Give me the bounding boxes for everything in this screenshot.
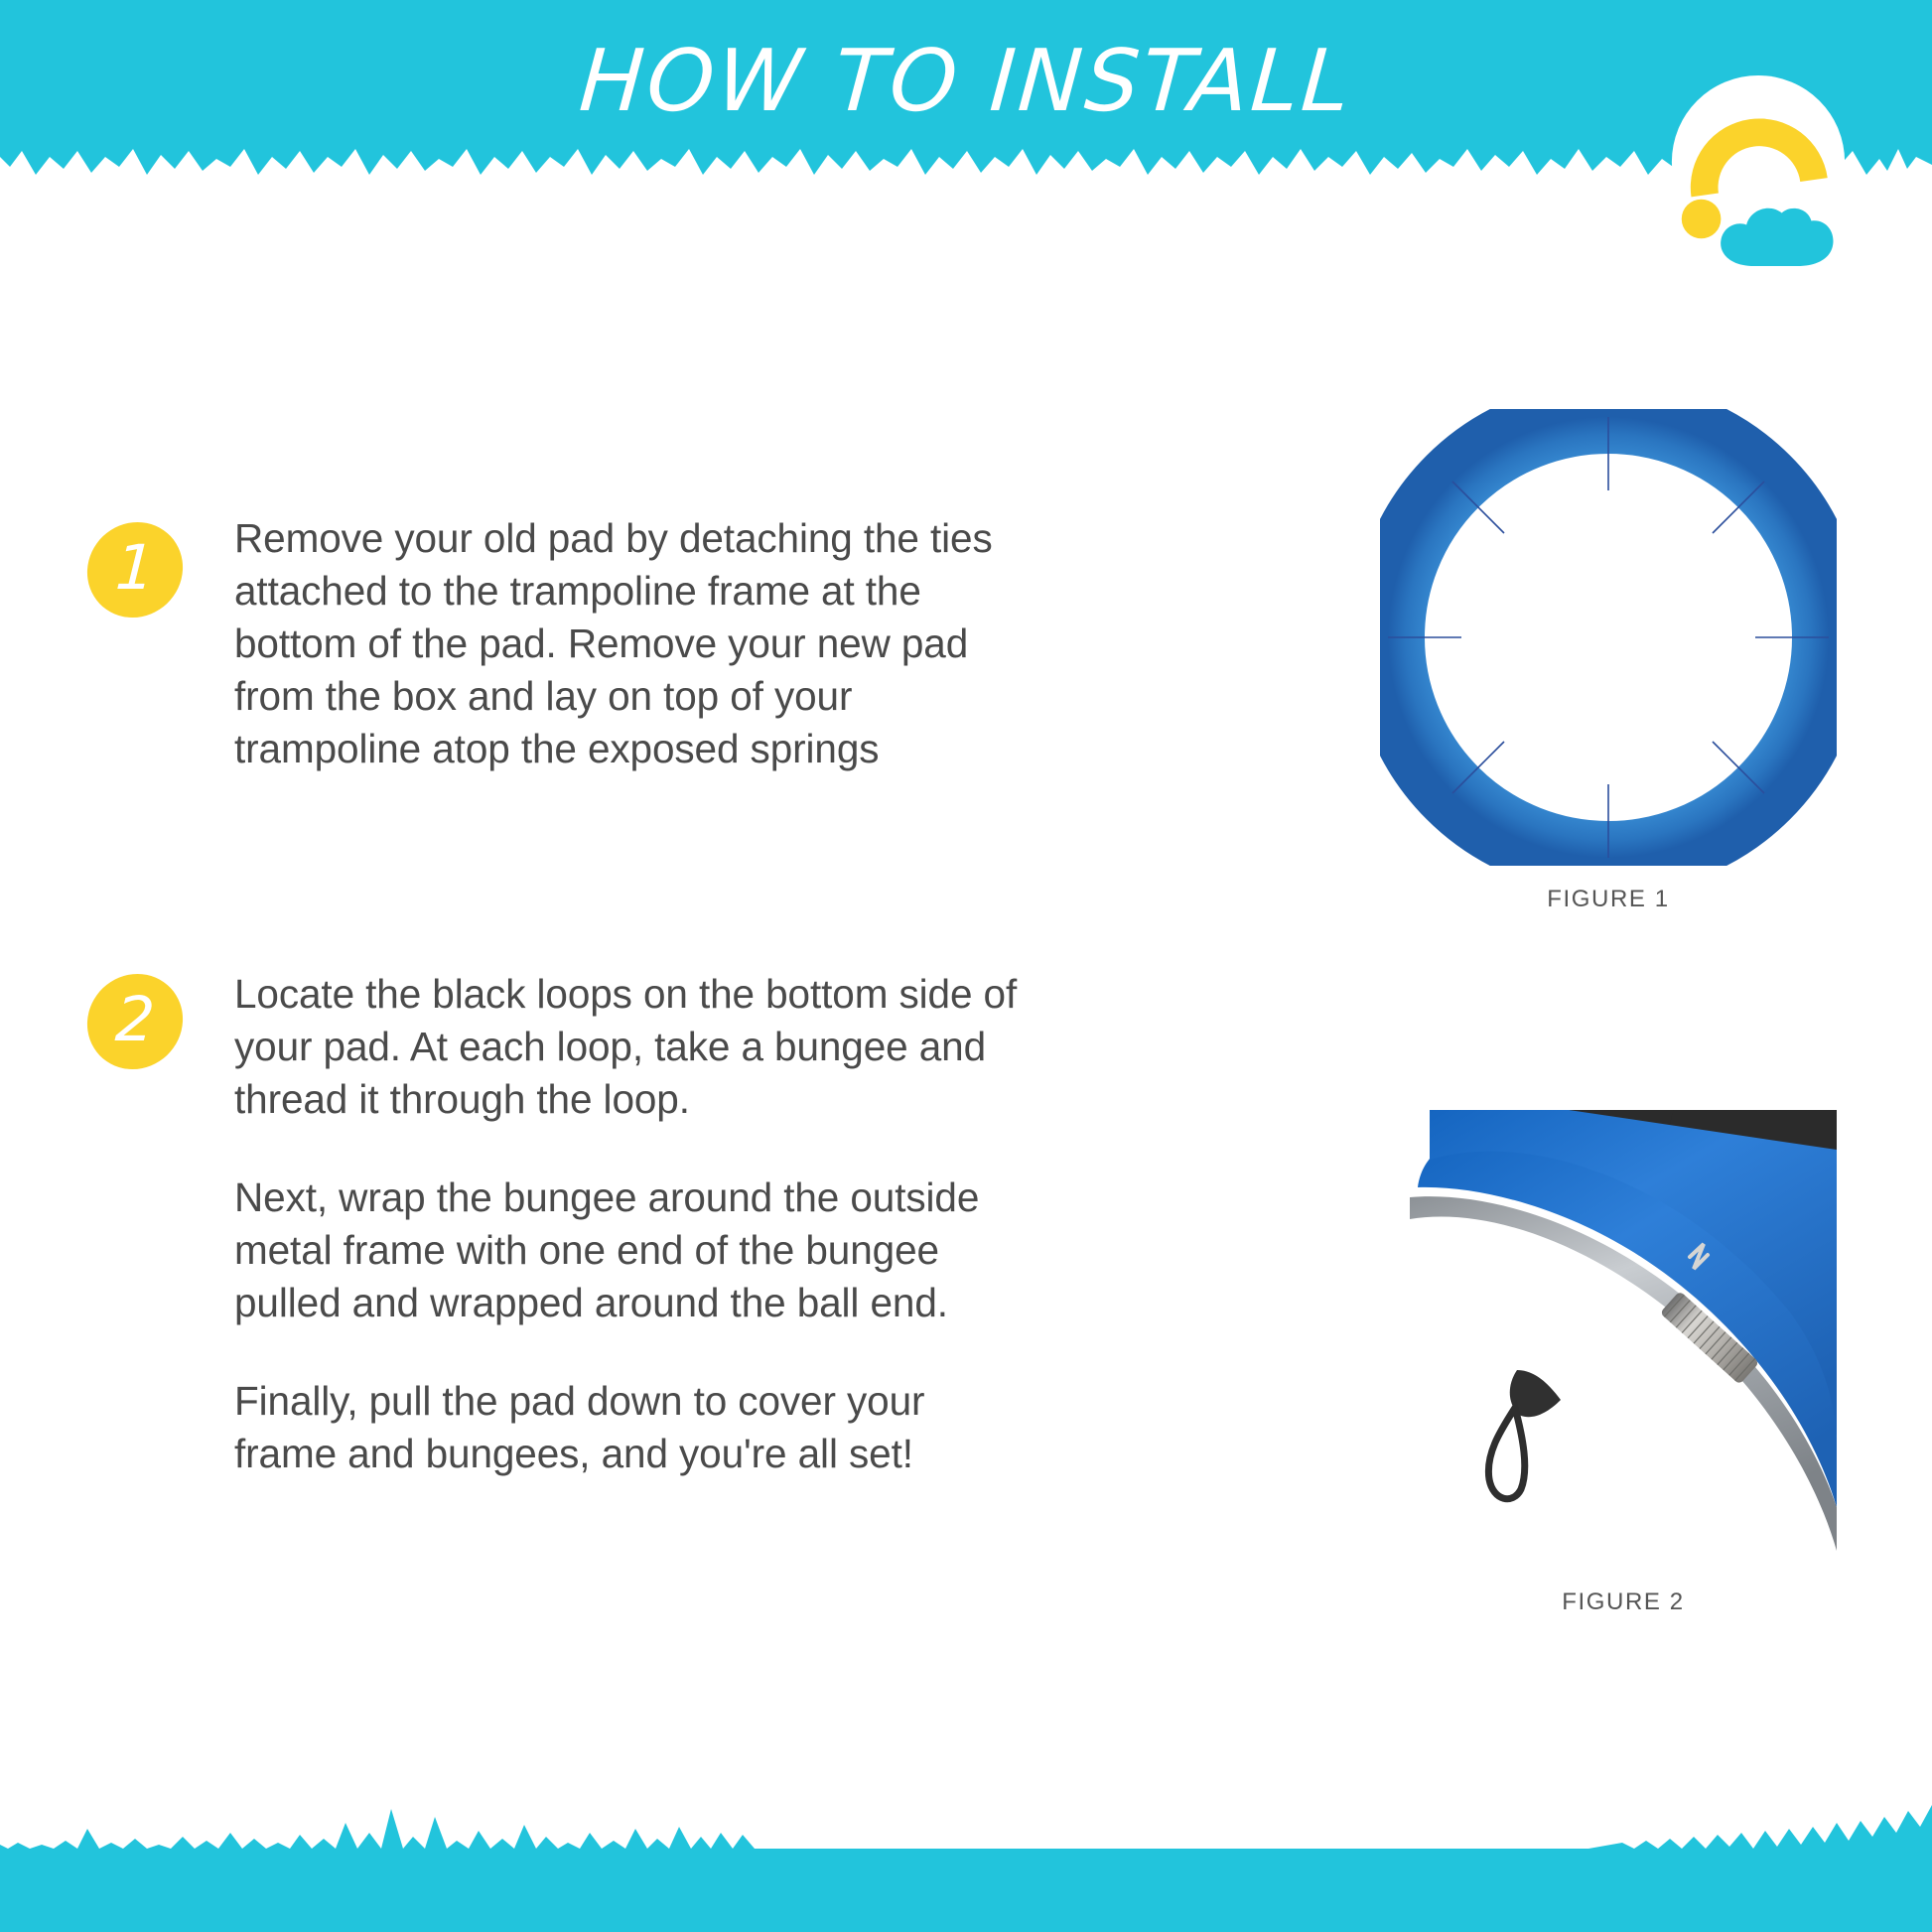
rainbow-dot-icon (1682, 200, 1722, 239)
figure-1-ring-illustration (1380, 409, 1837, 866)
figure-2-photo (1410, 1110, 1837, 1551)
install-step-2: 2 Locate the black loops on the bottom s… (87, 968, 1021, 1480)
footer-band (0, 1803, 1932, 1932)
figure-2-illustration (1410, 1110, 1837, 1551)
step-number-badge-1: 1 (84, 522, 185, 618)
step-2-paragraph-2: Next, wrap the bungee around the outside… (234, 1172, 1021, 1329)
step-1-paragraph-1: Remove your old pad by detaching the tie… (234, 512, 1021, 775)
rainbow-cloud-logo (1660, 71, 1857, 268)
step-1-text: Remove your old pad by detaching the tie… (234, 512, 1021, 775)
step-2-paragraph-3: Finally, pull the pad down to cover your… (234, 1375, 1021, 1480)
step-number-badge-2: 2 (84, 974, 185, 1069)
pad-ring-segment-lines (1388, 417, 1829, 858)
step-2-paragraph-1: Locate the black loops on the bottom sid… (234, 968, 1021, 1126)
step-2-text: Locate the black loops on the bottom sid… (234, 968, 1021, 1480)
figure-2-caption: FIGURE 2 (1410, 1588, 1837, 1616)
header-band: HOW TO INSTALL (0, 0, 1932, 204)
footer-torn-edge-shape (0, 1803, 1932, 1932)
figure-1-caption: FIGURE 1 (1380, 886, 1837, 913)
install-step-1: 1 Remove your old pad by detaching the t… (87, 512, 1021, 775)
page-title: HOW TO INSTALL (0, 32, 1932, 131)
